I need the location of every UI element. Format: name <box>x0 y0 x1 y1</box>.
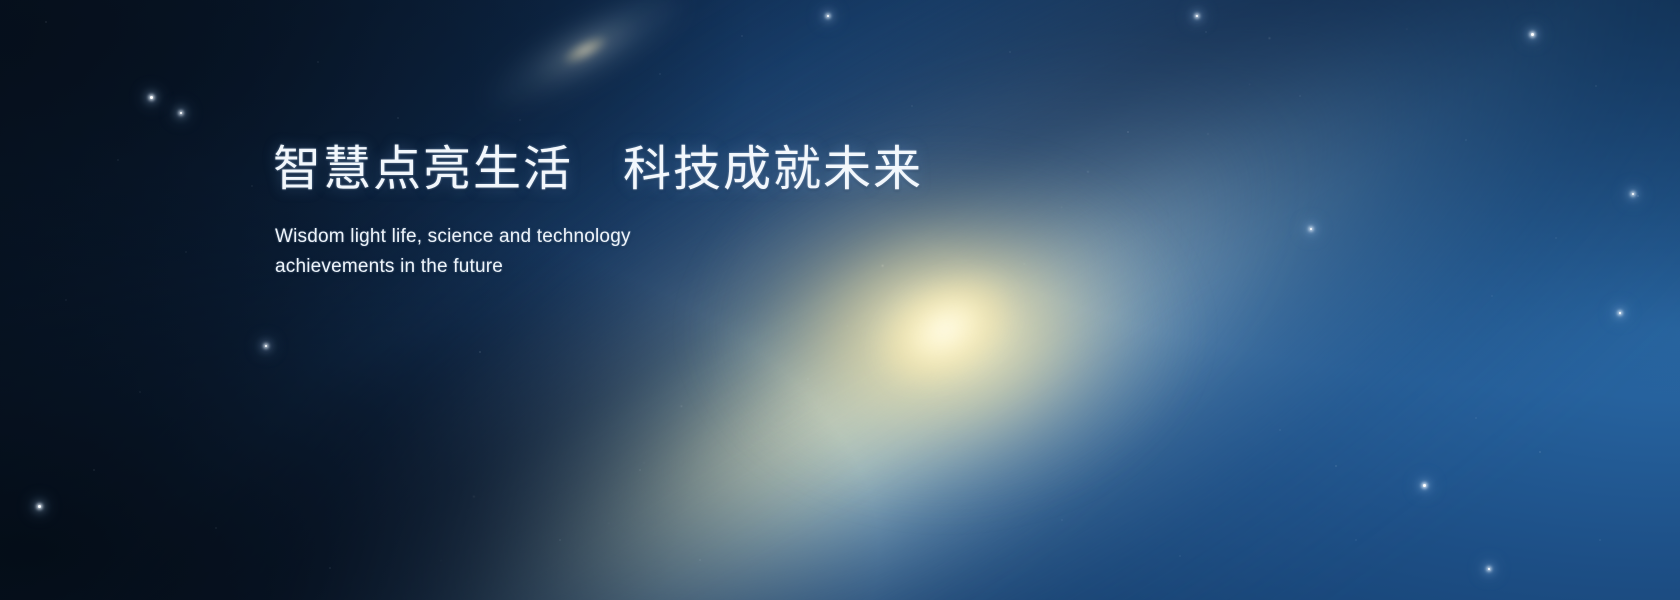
banner-headline: 智慧点亮生活 科技成就未来 <box>273 140 1033 200</box>
banner-subtitle-line-2: achievements in the future <box>275 252 1033 282</box>
starfield <box>0 0 1680 600</box>
banner-subtitle: Wisdom light life, science and technolog… <box>275 222 1033 282</box>
hero-banner: 智慧点亮生活 科技成就未来 Wisdom light life, science… <box>0 0 1680 600</box>
banner-subtitle-line-1: Wisdom light life, science and technolog… <box>275 222 1033 252</box>
banner-copy: 智慧点亮生活 科技成就未来 Wisdom light life, science… <box>273 140 1033 282</box>
